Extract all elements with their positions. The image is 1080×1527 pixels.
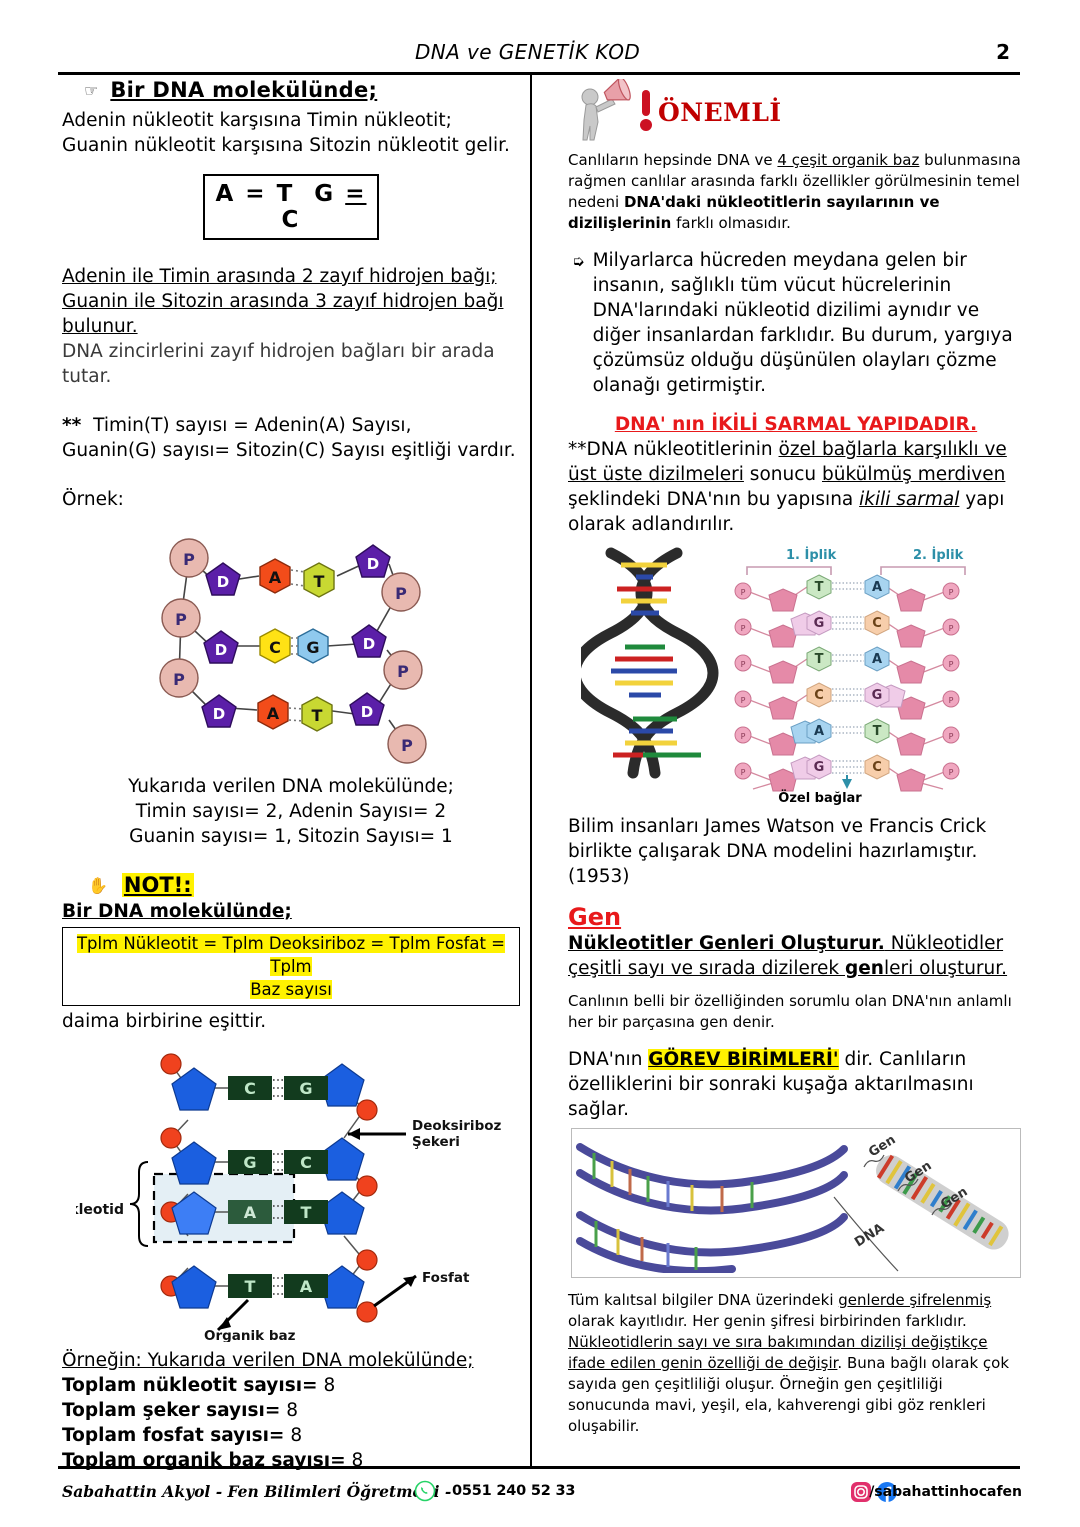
exclamation-icon — [638, 86, 654, 138]
paragraph-helix: **DNA nükleotitlerinin özel bağlarla kar… — [568, 437, 1024, 537]
svg-text:C: C — [300, 1153, 312, 1172]
gen-p1-bold2: gen — [845, 958, 884, 979]
page-root: DNA ve GENETİK KOD 2 ☞ Bir DNA molekülün… — [0, 0, 1080, 1527]
svg-text:G: G — [243, 1153, 256, 1172]
svg-text:P: P — [395, 584, 407, 603]
base-pair-equation-box: A = T G = C — [203, 174, 379, 240]
svg-text:T: T — [312, 706, 323, 725]
hand-icon: ✋ — [88, 876, 108, 895]
svg-text:C: C — [244, 1079, 256, 1098]
p4-part-a: Tüm kalıtsal bilgiler DNA üzerindeki — [568, 1291, 838, 1309]
ex2-value: 8 — [286, 1400, 298, 1421]
svg-text:A: A — [244, 1203, 257, 1222]
svg-text:T: T — [873, 724, 882, 739]
example-label: Örnek: — [62, 487, 520, 512]
text-bond-1: Adenin ile Timin arasında 2 zayıf hidroj… — [62, 264, 520, 289]
dna-nucleotide-labeled-diagram: Nükleotid — [76, 1042, 506, 1346]
double-helix-strands-diagram: 1. İplik 2. İplik P — [581, 543, 1011, 806]
p4-part-b: olarak kayıtlıdır. Her genin şifresi bir… — [568, 1312, 967, 1330]
eq-at: A = T — [216, 181, 295, 207]
gen-p2-a: DNA'nın — [568, 1049, 648, 1070]
svg-text:C: C — [814, 688, 824, 703]
svg-text:P: P — [741, 660, 746, 669]
p1-part-c: farklı olmasıdır. — [671, 214, 791, 232]
svg-text:A: A — [814, 724, 824, 739]
svg-text:G: G — [814, 616, 825, 631]
header-divider — [58, 72, 1020, 75]
svg-text:P: P — [949, 768, 954, 777]
ex1-label: Toplam nükleotit sayısı= — [62, 1375, 318, 1396]
gen-p1-bold: Nükleotitler Genleri Oluşturur. — [568, 933, 885, 954]
bullet-paragraph-cells: ➭ Milyarlarca hücreden meydana gelen bir… — [568, 248, 1024, 398]
example2-title: Örneğin: Yukarıda verilen DNA molekülünd… — [62, 1348, 520, 1373]
svg-text:P: P — [741, 696, 746, 705]
left-column: ☞ Bir DNA molekülünde; Adenin nükleotit … — [62, 78, 520, 1473]
svg-text:G: G — [299, 1079, 312, 1098]
p3-part-c: şeklindeki DNA'nın bu yapısına — [568, 489, 859, 510]
svg-text:Deoksiriboz: Deoksiriboz — [412, 1118, 502, 1134]
example2-row-2: Toplam şeker sayısı= 8 — [62, 1398, 520, 1423]
svg-text:D: D — [363, 635, 375, 653]
pointing-hand-icon: ☞ — [84, 81, 98, 100]
svg-text:G: G — [814, 760, 825, 775]
svg-text:D: D — [367, 555, 379, 573]
phone-number: 0551 240 52 33 — [452, 1483, 575, 1499]
fig1-caption-line3: Guanin sayısı= 1, Sitozin Sayısı= 1 — [62, 824, 520, 849]
right-column: ÖNEMLİ Canlıların hepsinde DNA ve 4 çeşi… — [568, 78, 1024, 1437]
eq-g: G — [314, 181, 335, 207]
fig1-caption-line1: Yukarıda verilen DNA molekülünde; — [62, 774, 520, 799]
gen-paragraph-1: Nükleotitler Genleri Oluşturur. Nükleoti… — [568, 931, 1024, 981]
note-heading: ✋ NOT!: — [62, 873, 520, 897]
p3-italic: ikili sarmal — [859, 489, 959, 510]
eq-c: C — [282, 207, 301, 233]
p1-underlined: 4 çeşit organik baz — [777, 151, 919, 169]
helix-section-title: DNA' nın İKİLİ SARMAL YAPIDADIR. — [568, 412, 1024, 437]
total-count-formula-box: Tplm Nükleotit = Tplm Deoksiriboz = Tplm… — [62, 927, 520, 1006]
svg-text:G: G — [306, 638, 319, 657]
svg-text:D: D — [217, 573, 229, 591]
svg-text:T: T — [245, 1277, 256, 1296]
ex4-value: 8 — [351, 1450, 363, 1471]
gen-small-text: Canlının belli bir özelliğinden sorumlu … — [568, 991, 1024, 1033]
formula-line-2: Baz sayısı — [250, 980, 332, 999]
text-rule-1: ** Timin(T) sayısı = Adenin(A) Sayısı, — [62, 413, 520, 438]
gen-p1-rest-b: leri oluşturur. — [884, 958, 1007, 979]
formula-line-1: Tplm Nükleotit = Tplm Deoksiriboz = Tplm… — [77, 934, 505, 976]
svg-text:Fosfat: Fosfat — [422, 1270, 470, 1286]
text-adenin-timin: Adenin nükleotit karşısına Timin nükleot… — [62, 108, 520, 133]
page-header: DNA ve GENETİK KOD 2 — [60, 40, 1020, 74]
p3-underline-2: bükülmüş merdiven — [822, 464, 1005, 485]
example2-row-4: Toplam organik baz sayısı= 8 — [62, 1448, 520, 1473]
svg-text:Şekeri: Şekeri — [412, 1134, 460, 1150]
stars-marker: ** — [62, 415, 81, 436]
ex1-value: 8 — [323, 1375, 335, 1396]
svg-text:P: P — [173, 670, 185, 689]
svg-text:Organik baz: Organik baz — [204, 1328, 296, 1342]
svg-text:P: P — [949, 696, 954, 705]
p3-part-a: **DNA nükleotitlerinin — [568, 439, 779, 460]
note-title: NOT!: — [122, 873, 194, 897]
ex2-label: Toplam şeker sayısı= — [62, 1400, 280, 1421]
svg-text:D: D — [361, 703, 373, 721]
svg-text:A: A — [872, 580, 882, 595]
heading-text: Bir DNA molekülünde; — [110, 78, 377, 102]
svg-text:P: P — [741, 732, 746, 741]
svg-text:P: P — [949, 660, 954, 669]
svg-text:A: A — [300, 1277, 313, 1296]
gen-section-title: Gen — [568, 903, 1024, 931]
page-number: 2 — [996, 40, 1010, 64]
svg-text:T: T — [301, 1203, 312, 1222]
svg-text:1. İplik: 1. İplik — [786, 547, 837, 563]
svg-text:C: C — [269, 638, 281, 657]
p4-underline-1: genlerde şifrelenmiş — [838, 1291, 991, 1309]
svg-text:D: D — [215, 641, 227, 659]
rule1-text: Timin(T) sayısı = Adenin(A) Sayısı, — [93, 415, 411, 436]
whatsapp-icon[interactable] — [414, 1480, 436, 1506]
page-footer: Sabahattin Akyol - Fen Bilimleri Öğretme… — [62, 1480, 1022, 1520]
social-handle: /sabahattinhocafen — [869, 1484, 1022, 1500]
ex3-value: 8 — [290, 1425, 302, 1446]
p3-part-b: sonucu — [744, 464, 822, 485]
paragraph-genetic-info: Tüm kalıtsal bilgiler DNA üzerindeki gen… — [568, 1290, 1024, 1437]
formula-after-text: daima birbirine eşittir. — [62, 1009, 520, 1034]
page-title: DNA ve GENETİK KOD — [415, 40, 640, 64]
paragraph-important: Canlıların hepsinde DNA ve 4 çeşit organ… — [568, 150, 1024, 234]
svg-text:P: P — [401, 736, 413, 755]
gen-paragraph-2: DNA'nın GÖREV BİRİMLERİ' dir. Canlıların… — [568, 1047, 1024, 1122]
svg-text:P: P — [741, 624, 746, 633]
text-rule-2: Guanin(G) sayısı= Sitozin(C) Sayısı eşit… — [62, 438, 520, 463]
note-subtitle: Bir DNA molekülünde; — [62, 899, 520, 924]
svg-text:T: T — [815, 580, 824, 595]
svg-text:A: A — [267, 704, 280, 723]
example2-row-3: Toplam fosfat sayısı= 8 — [62, 1423, 520, 1448]
svg-text:P: P — [175, 610, 187, 629]
p2-text: Milyarlarca hücreden meydana gelen bir i… — [593, 248, 1024, 398]
text-bond-3: DNA zincirlerini zayıf hidrojen bağları … — [62, 339, 520, 389]
svg-text:G: G — [872, 688, 883, 703]
p1-part-a: Canlıların hepsinde DNA ve — [568, 151, 777, 169]
column-divider — [530, 74, 532, 1466]
section-heading-dna-molecule: ☞ Bir DNA molekülünde; — [62, 78, 520, 102]
svg-text:C: C — [872, 760, 882, 775]
svg-text:C: C — [872, 616, 882, 631]
fig1-caption-line2: Timin sayısı= 2, Adenin Sayısı= 2 — [62, 799, 520, 824]
svg-text:A: A — [269, 568, 282, 587]
svg-text:2. İplik: 2. İplik — [913, 547, 964, 563]
example2-row-1: Toplam nükleotit sayısı= 8 — [62, 1373, 520, 1398]
svg-text:Nükleotid: Nükleotid — [76, 1202, 124, 1218]
svg-text:P: P — [949, 588, 954, 597]
text-bond-2: Guanin ile Sitozin arasında 3 zayıf hidr… — [62, 289, 520, 339]
eq-sign2: = — [345, 181, 366, 207]
svg-text:T: T — [815, 652, 824, 667]
important-label: ÖNEMLİ — [658, 98, 782, 127]
svg-text:P: P — [949, 732, 954, 741]
megaphone-person-icon — [568, 79, 634, 145]
gen-p2-highlight: GÖREV BİRİMLERİ' — [648, 1049, 838, 1070]
svg-text:P: P — [741, 588, 746, 597]
watson-crick-text: Bilim insanları James Watson ve Francis … — [568, 814, 1024, 889]
svg-text:A: A — [872, 652, 882, 667]
svg-text:P: P — [183, 550, 195, 569]
text-guanin-sitozin: Guanin nükleotit karşısına Sitozin nükle… — [62, 133, 520, 158]
ex4-label: Toplam organik baz sayısı= — [62, 1450, 346, 1471]
dna-gene-segments-image: Gen Gen Gen DNA — [571, 1128, 1021, 1278]
svg-text:P: P — [949, 624, 954, 633]
svg-text:T: T — [314, 572, 325, 591]
arrow-bullet-icon: ➭ — [572, 248, 585, 398]
svg-text:D: D — [213, 705, 225, 723]
important-banner: ÖNEMLİ — [568, 78, 1024, 146]
ozel-baglar-label: Özel bağlar — [629, 791, 1011, 806]
svg-text:P: P — [741, 768, 746, 777]
ex3-label: Toplam fosfat sayısı= — [62, 1425, 284, 1446]
dna-ladder-colored-diagram: P P P P P P D — [141, 518, 441, 772]
svg-text:P: P — [397, 662, 409, 681]
author-name: Sabahattin Akyol - Fen Bilimleri Öğretme… — [62, 1482, 451, 1501]
